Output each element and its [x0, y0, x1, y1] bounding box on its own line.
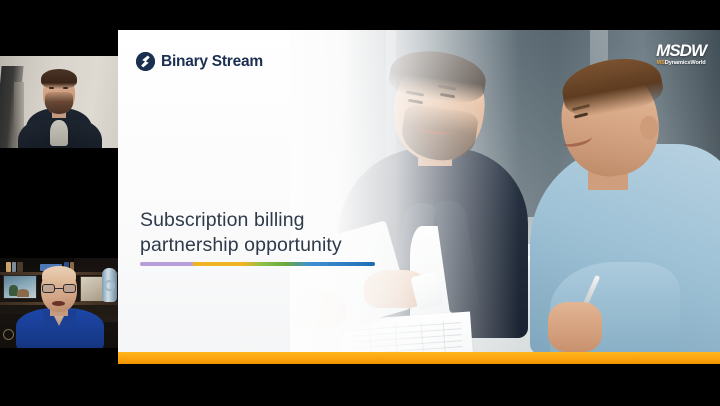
hand-holding-pen — [548, 302, 602, 352]
framed-picture — [3, 275, 37, 299]
mouth — [52, 301, 65, 306]
book — [6, 262, 11, 272]
binary-stream-mark-icon — [136, 52, 155, 71]
book — [17, 262, 23, 272]
inner-shirt — [50, 120, 68, 146]
msdw-wordmark: MSDW — [656, 42, 706, 59]
forehead — [42, 266, 76, 284]
msdw-tagline: MSDynamicsWorld — [656, 61, 706, 67]
participant-filmstrip — [0, 0, 118, 406]
shared-presentation-slide[interactable]: Binary Stream MSDW MSDynamicsWorld Subsc… — [118, 30, 720, 364]
beard — [45, 92, 73, 114]
bridge — [55, 288, 63, 289]
book — [12, 262, 16, 272]
eye-left — [49, 87, 54, 89]
eye-right — [63, 87, 68, 89]
video-call-screen: Binary Stream MSDW MSDynamicsWorld Subsc… — [0, 0, 720, 406]
msdw-tagline-rest: DynamicsWorld — [665, 60, 706, 66]
microphone-ring — [104, 280, 115, 291]
photo-left-fade — [290, 30, 520, 364]
framed-photo-right — [80, 276, 104, 302]
lens-left — [42, 284, 55, 293]
binary-stream-wordmark: Binary Stream — [161, 53, 263, 71]
slide-photo — [290, 30, 720, 364]
slide-title-line-1: Subscription billing — [140, 208, 470, 233]
page-title: Subscription billing partnership opportu… — [140, 208, 470, 257]
msdw-logo: MSDW MSDynamicsWorld — [656, 42, 706, 67]
slide-footer-bar — [118, 352, 720, 364]
mouth — [54, 101, 64, 103]
participant-video-tile-top[interactable] — [0, 56, 118, 148]
picture-rock — [17, 289, 29, 297]
eyeglasses-icon — [42, 284, 76, 293]
binary-stream-logo: Binary Stream — [136, 52, 263, 71]
participant-video-tile-bottom[interactable] — [0, 258, 118, 348]
person-right-ear — [640, 116, 658, 140]
slide-title-line-2: partnership opportunity — [140, 233, 470, 258]
accent-divider — [140, 262, 375, 266]
lens-right — [63, 284, 76, 293]
hair — [41, 69, 77, 89]
msdw-tagline-prefix: MS — [657, 60, 665, 66]
watermark-icon — [3, 329, 14, 340]
